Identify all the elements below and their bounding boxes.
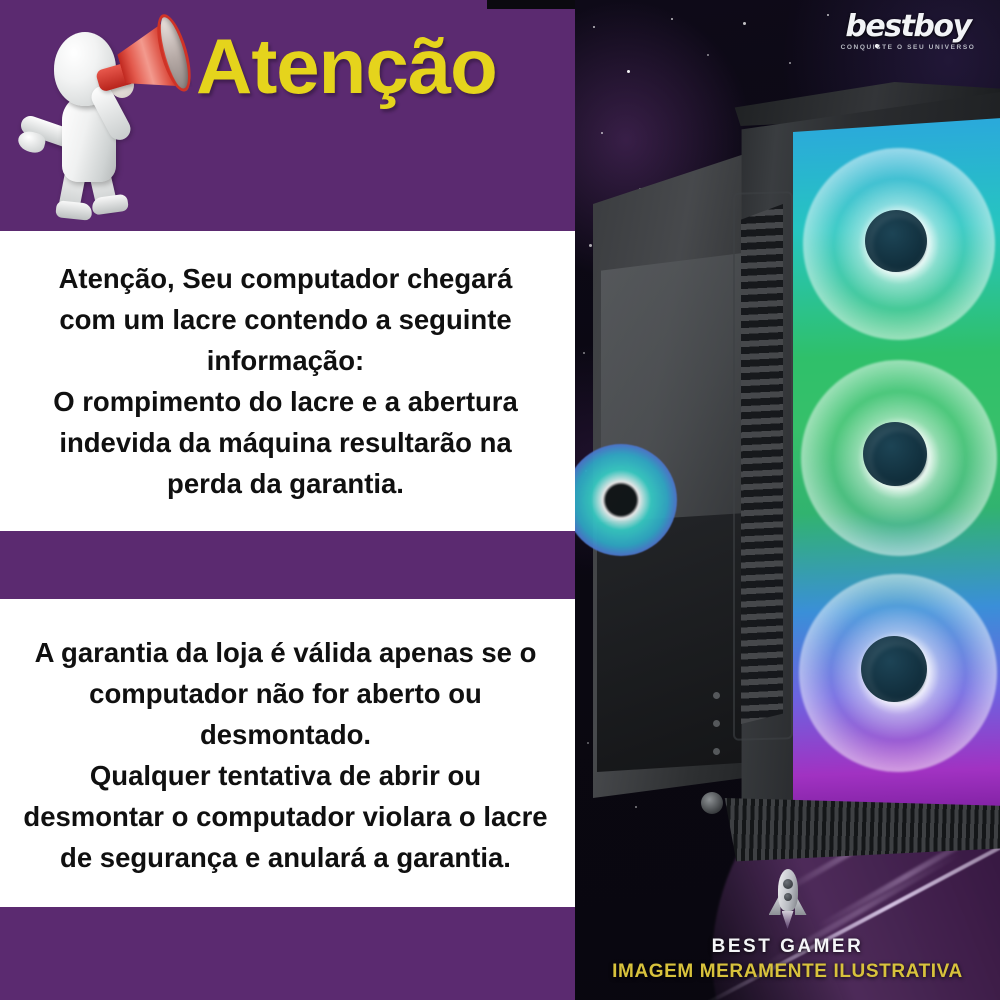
rgb-fan-bottom-hub <box>861 636 927 702</box>
rocket-body <box>778 869 798 911</box>
notice-line: desmontar o computador violara o lacre <box>6 796 565 837</box>
notice-line: informação: <box>6 340 565 381</box>
rocket-window-upper <box>783 879 793 889</box>
divider-band-middle <box>0 531 575 599</box>
rgb-fan-middle-hub <box>863 422 927 486</box>
notice-line: com um lacre contendo a seguinte <box>6 299 565 340</box>
gaming-pc-tower-image <box>593 92 993 832</box>
top-edge-sliver <box>487 0 575 9</box>
caption-secondary: IMAGEM MERAMENTE ILUSTRATIVA <box>575 959 1000 984</box>
notice-line: Qualquer tentativa de abrir ou <box>6 755 565 796</box>
page-title: Atenção <box>196 16 536 116</box>
notice-block-warranty-seal: Atenção, Seu computador chegará com um l… <box>0 258 571 504</box>
brand-tagline: CONQUISTE O SEU UNIVERSO <box>824 42 992 53</box>
brand-logo: bestboy CONQUISTE O SEU UNIVERSO <box>824 12 992 64</box>
rgb-fan-top-hub <box>865 210 927 272</box>
notice-line: perda da garantia. <box>6 463 565 504</box>
notice-line: computador não for aberto ou <box>6 673 565 714</box>
rocket-window-lower <box>784 893 792 901</box>
notice-line: desmontado. <box>6 714 565 755</box>
brand-name: bestboy <box>824 12 992 42</box>
notice-line: indevida da máquina resultarão na <box>6 422 565 463</box>
left-content-column: Atenção Atenção, Seu computador chegará … <box>0 0 575 1000</box>
image-caption: BEST GAMER IMAGEM MERAMENTE ILUSTRATIVA <box>575 867 1000 984</box>
header-band: Atenção <box>0 0 575 231</box>
notice-line: A garantia da loja é válida apenas se o <box>6 632 565 673</box>
notice-line: O rompimento do lacre e a abertura <box>6 381 565 422</box>
divider-band-bottom <box>0 907 575 1000</box>
rocket-icon <box>765 867 811 929</box>
promo-banner: Atenção Atenção, Seu computador chegará … <box>0 0 1000 1000</box>
megaphone-icon <box>85 10 199 111</box>
caption-primary: BEST GAMER <box>575 935 1000 959</box>
case-power-button <box>701 792 723 814</box>
notice-line: de segurança e anulará a garantia. <box>6 837 565 878</box>
case-front-vents <box>741 204 783 724</box>
mascot-left-foot <box>55 200 93 221</box>
megaphone-person-icon <box>18 14 193 219</box>
product-image-panel: bestboy CONQUISTE O SEU UNIVERSO BEST GA… <box>575 0 1000 1000</box>
notice-block-warranty-terms: A garantia da loja é válida apenas se o … <box>0 632 571 878</box>
rocket-exhaust <box>782 911 794 929</box>
notice-line: Atenção, Seu computador chegará <box>6 258 565 299</box>
